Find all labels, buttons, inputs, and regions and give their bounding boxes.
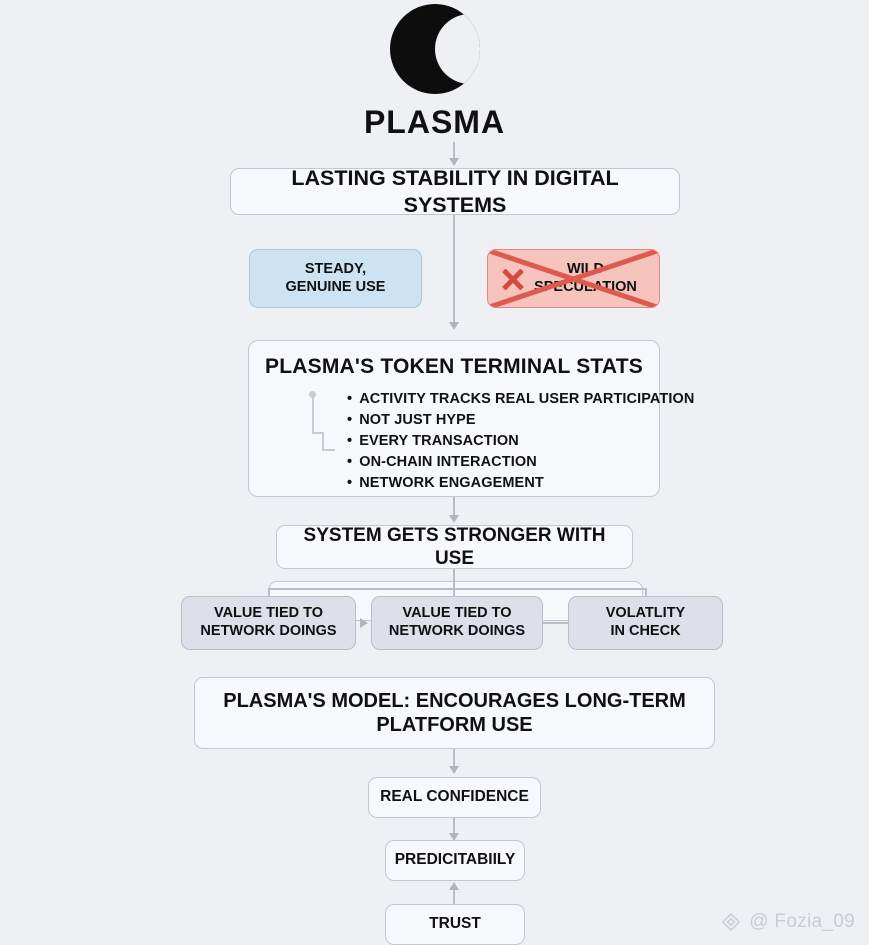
crescent-cutout	[435, 14, 480, 84]
list-item: NETWORK ENGAGEMENT	[347, 475, 694, 491]
node-lasting-stability[interactable]: LASTING STABILITY IN DIGITAL SYSTEMS	[230, 168, 680, 215]
arrowhead-branch1-branch2	[360, 618, 368, 628]
node-wild-speculation[interactable]: WILD SPECULATION	[487, 249, 660, 308]
connector-stronger-trunk	[453, 569, 455, 589]
reject-x-icon	[500, 266, 526, 292]
stats-list: ACTIVITY TRACKS REAL USER PARTICIPATION …	[347, 391, 694, 496]
node-steady-genuine-use[interactable]: STEADY, GENUINE USE	[249, 249, 422, 308]
stats-title: PLASMA'S TOKEN TERMINAL STATS	[265, 355, 643, 379]
volatility-line-1: VOLATLITY	[606, 605, 685, 623]
watermark-handle: @ Fozia_09	[749, 911, 855, 933]
node-trust[interactable]: TRUST	[385, 904, 525, 945]
watermark: @ Fozia_09	[720, 911, 855, 933]
value-tied-1-line-2: NETWORK DOINGS	[200, 623, 336, 641]
wild-line-2: SPECULATION	[534, 279, 637, 297]
steady-line-1: STEADY,	[305, 261, 366, 279]
connector-trust-predictability	[453, 888, 455, 904]
model-line-2: PLATFORM USE	[376, 713, 532, 737]
arrowhead-headline-stats	[449, 322, 459, 330]
binance-diamond-icon	[720, 911, 742, 933]
list-item: ON-CHAIN INTERACTION	[347, 454, 694, 470]
arrowhead-stats-stronger	[449, 515, 459, 523]
page-title: PLASMA	[0, 104, 869, 141]
value-tied-2-line-1: VALUE TIED TO	[402, 605, 511, 623]
list-item: EVERY TRANSACTION	[347, 433, 694, 449]
connector-headline-stats	[453, 215, 455, 325]
wild-line-1: WILD	[567, 261, 604, 279]
arrowhead-trust-predictability	[449, 882, 459, 890]
arrowhead-model-confidence	[449, 766, 459, 774]
node-value-tied-1[interactable]: VALUE TIED TO NETWORK DOINGS	[181, 596, 356, 650]
steady-line-2: GENUINE USE	[286, 279, 386, 297]
value-tied-2-line-2: NETWORK DOINGS	[389, 623, 525, 641]
diagram-canvas: PLASMA LASTING STABILITY IN DIGITAL SYST…	[0, 0, 869, 945]
volatility-line-2: IN CHECK	[610, 623, 680, 641]
node-plasma-model[interactable]: PLASMA'S MODEL: ENCOURAGES LONG-TERM PLA…	[194, 677, 715, 749]
node-predictability[interactable]: PREDICITABIILY	[385, 840, 525, 881]
value-tied-1-line-1: VALUE TIED TO	[214, 605, 323, 623]
node-value-tied-2[interactable]: VALUE TIED TO NETWORK DOINGS	[371, 596, 543, 650]
list-item: ACTIVITY TRACKS REAL USER PARTICIPATION	[347, 391, 694, 407]
crescent-moon-logo-icon	[390, 4, 480, 94]
model-line-1: PLASMA'S MODEL: ENCOURAGES LONG-TERM	[223, 689, 686, 713]
node-real-confidence[interactable]: REAL CONFIDENCE	[368, 777, 541, 818]
node-volatility-in-check[interactable]: VOLATLITY IN CHECK	[568, 596, 723, 650]
connector-branch-bus	[268, 588, 646, 590]
node-token-terminal-stats[interactable]: PLASMA'S TOKEN TERMINAL STATS ACTIVITY T…	[248, 340, 660, 497]
node-system-gets-stronger[interactable]: SYSTEM GETS STRONGER WITH USE	[276, 525, 633, 569]
logo-container	[0, 4, 869, 94]
connector-branch2-branch3	[543, 622, 568, 624]
list-item: NOT JUST HYPE	[347, 412, 694, 428]
